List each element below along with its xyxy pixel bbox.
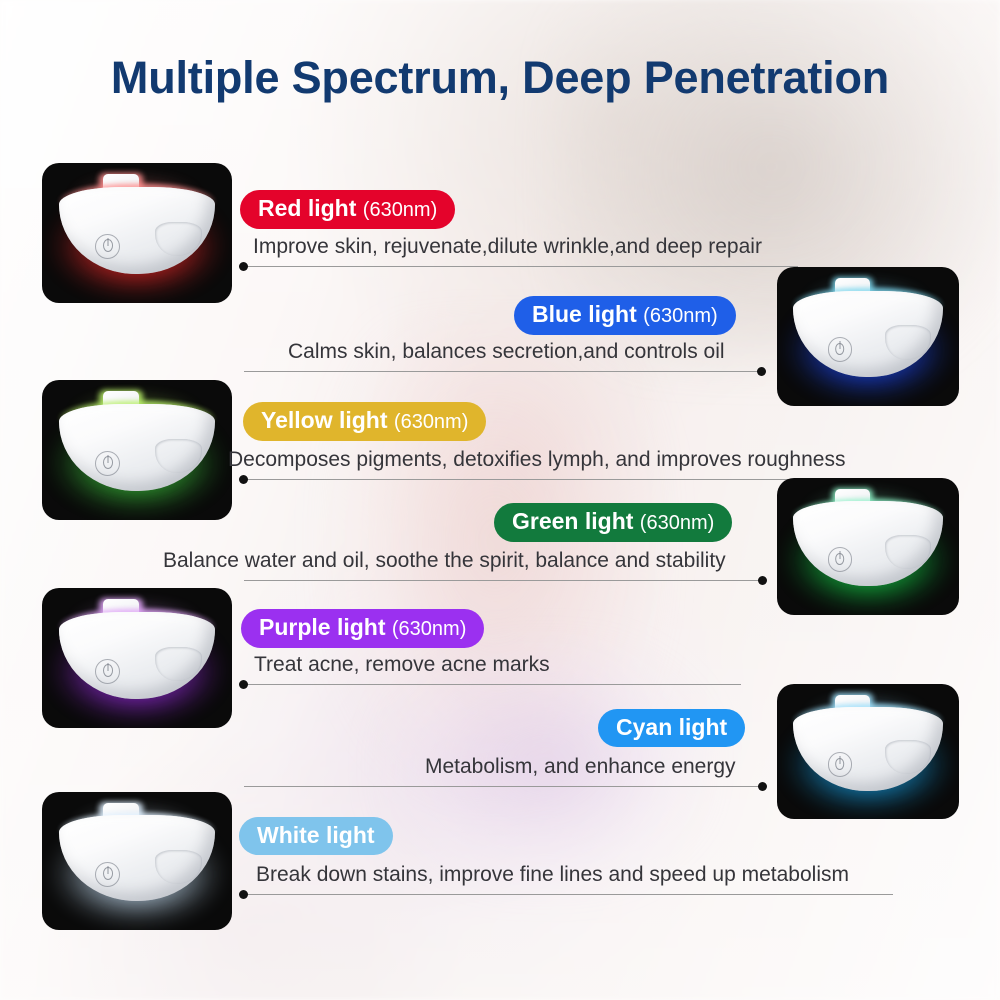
power-button-icon	[95, 451, 120, 476]
light-description-green: Balance water and oil, soothe the spirit…	[163, 548, 726, 573]
led-mask-body-green	[777, 478, 959, 615]
visor-shell	[793, 501, 942, 586]
power-button-icon	[828, 752, 852, 776]
light-description-blue: Calms skin, balances secretion,and contr…	[288, 339, 725, 364]
visor-inner-edge	[885, 325, 931, 359]
visor-inner-edge	[155, 222, 203, 257]
product-thumbnail-green[interactable]	[777, 478, 959, 615]
visor-shell	[59, 815, 215, 901]
light-description-yellow: Decomposes pigments, detoxifies lymph, a…	[228, 447, 845, 472]
connector-dot-cyan	[758, 782, 767, 791]
light-badge-red: Red light (630nm)	[240, 190, 455, 229]
product-thumbnail-red[interactable]	[42, 163, 232, 303]
led-mask-body-red	[42, 163, 232, 303]
connector-dot-green	[758, 576, 767, 585]
light-badge-name: Yellow light	[261, 407, 388, 433]
visor-shell	[59, 187, 215, 274]
led-mask-body-yellow	[42, 380, 232, 520]
connector-line-purple	[243, 684, 741, 685]
led-mask-body-blue	[777, 267, 959, 406]
light-badge-purple: Purple light (630nm)	[241, 609, 484, 648]
visor-inner-edge	[885, 740, 931, 773]
power-button-icon	[95, 862, 120, 887]
light-badge-green: Green light (630nm)	[494, 503, 732, 542]
light-badge-name: Green light	[512, 508, 633, 534]
connector-dot-yellow	[239, 475, 248, 484]
power-button-icon	[828, 547, 852, 571]
visor-inner-edge	[155, 647, 203, 682]
light-badge-white: White light	[239, 817, 393, 855]
power-button-icon	[828, 337, 852, 361]
light-description-white: Break down stains, improve fine lines an…	[256, 862, 849, 887]
light-badge-wavelength: (630nm)	[392, 618, 466, 640]
connector-line-cyan	[244, 786, 763, 787]
light-badge-wavelength: (630nm)	[640, 512, 714, 534]
product-thumbnail-blue[interactable]	[777, 267, 959, 406]
light-badge-wavelength: (630nm)	[363, 199, 437, 221]
light-description-red: Improve skin, rejuvenate,dilute wrinkle,…	[253, 234, 762, 259]
visor-shell	[59, 612, 215, 699]
led-mask-body-purple	[42, 588, 232, 728]
light-description-cyan: Metabolism, and enhance energy	[425, 754, 736, 779]
power-button-icon	[95, 234, 120, 259]
visor-inner-edge	[155, 439, 203, 474]
connector-line-white	[243, 894, 893, 895]
light-badge-cyan: Cyan light	[598, 709, 745, 747]
product-thumbnail-white[interactable]	[42, 792, 232, 930]
page-title: Multiple Spectrum, Deep Penetration	[0, 52, 1000, 104]
light-badge-name: Red light	[258, 195, 356, 221]
light-badge-name: Cyan light	[616, 714, 727, 740]
infographic-canvas: Multiple Spectrum, Deep Penetration Red …	[0, 0, 1000, 1000]
visor-inner-edge	[885, 535, 931, 569]
light-description-purple: Treat acne, remove acne marks	[254, 652, 550, 677]
light-badge-wavelength: (630nm)	[394, 411, 468, 433]
product-thumbnail-cyan[interactable]	[777, 684, 959, 819]
power-button-icon	[95, 659, 120, 684]
connector-line-green	[244, 580, 763, 581]
connector-line-blue	[244, 371, 762, 372]
product-thumbnail-purple[interactable]	[42, 588, 232, 728]
visor-inner-edge	[155, 850, 203, 884]
connector-line-red	[243, 266, 798, 267]
light-badge-name: Purple light	[259, 614, 386, 640]
visor-shell	[793, 707, 942, 791]
product-thumbnail-yellow[interactable]	[42, 380, 232, 520]
light-badge-blue: Blue light (630nm)	[514, 296, 736, 335]
light-badge-wavelength: (630nm)	[643, 305, 717, 327]
connector-dot-white	[239, 890, 248, 899]
connector-dot-red	[239, 262, 248, 271]
light-badge-yellow: Yellow light (630nm)	[243, 402, 486, 441]
connector-dot-purple	[239, 680, 248, 689]
visor-shell	[793, 291, 942, 377]
visor-shell	[59, 404, 215, 491]
light-badge-name: White light	[257, 822, 375, 848]
led-mask-body-white	[42, 792, 232, 930]
light-badge-name: Blue light	[532, 301, 637, 327]
led-mask-body-cyan	[777, 684, 959, 819]
connector-dot-blue	[757, 367, 766, 376]
